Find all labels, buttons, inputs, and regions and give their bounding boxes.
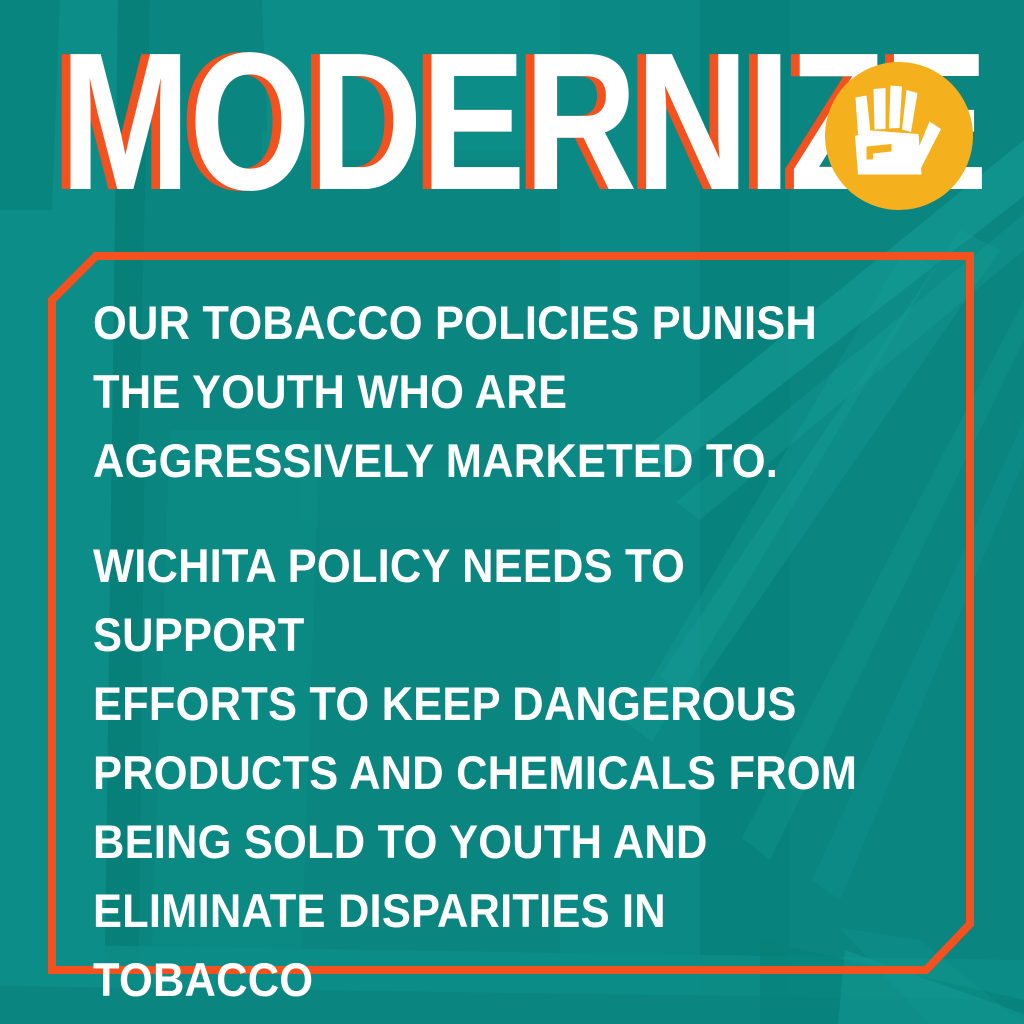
body-paragraph-1: OUR TOBACCO POLICIES PUNISH THE YOUTH WH… — [93, 288, 882, 495]
content-frame: OUR TOBACCO POLICIES PUNISH THE YOUTH WH… — [48, 252, 974, 974]
poster-canvas: MODERNIZE — [0, 0, 1024, 1024]
raised-hand-icon — [825, 62, 973, 210]
body-paragraph-2: WICHITA POLICY NEEDS TO SUPPORT EFFORTS … — [93, 531, 882, 1024]
frame-text-content: OUR TOBACCO POLICIES PUNISH THE YOUTH WH… — [93, 288, 946, 1024]
raised-hand-badge — [825, 62, 973, 210]
